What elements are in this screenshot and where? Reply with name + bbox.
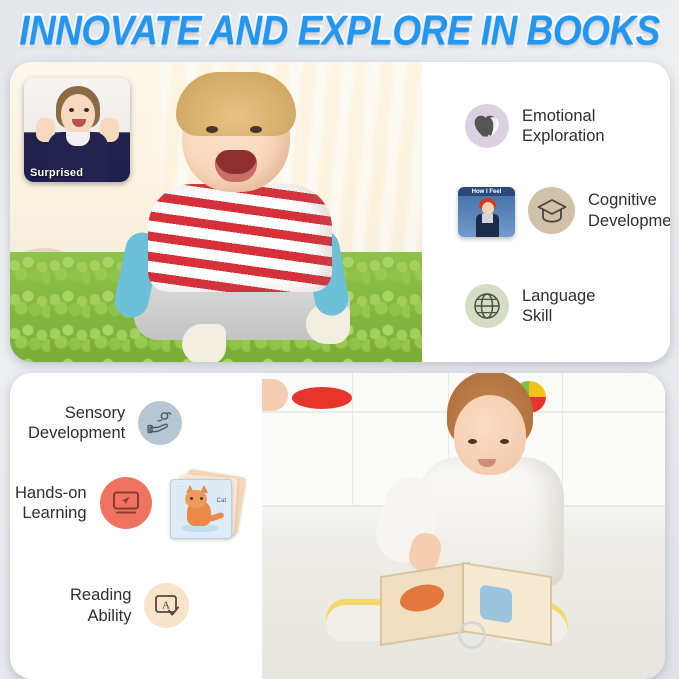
baby-mouth: [215, 150, 257, 182]
shelf-toy-doll: [262, 379, 288, 411]
globe-icon: [465, 284, 509, 328]
graduation-cap-icon: [528, 187, 575, 234]
flashcard-word: Cat: [217, 498, 226, 504]
page-title: INNOVATE AND EXPLORE IN BOOKS: [19, 7, 660, 54]
baby-sock-left: [182, 324, 226, 362]
girl-eye-left: [69, 108, 74, 112]
smiling-baby-on-green-rug-photo: Surprised: [10, 62, 422, 362]
flashcard-front-cat: ···· Cat: [170, 479, 232, 539]
cat-eye-left: [190, 497, 193, 500]
bottom-feature-panel: Sensory Development Hands-on Learning: [10, 373, 665, 679]
inset-caption-label: Surprised: [30, 167, 83, 179]
girl-face: [61, 94, 95, 134]
baby-reading-book-photo: [262, 373, 665, 679]
top-feature-list: Emotional Exploration How I Feel Cogniti…: [430, 62, 670, 362]
shelf-toy-red-disc: [292, 387, 352, 409]
baby-eye-left: [206, 126, 218, 133]
cursor-screen-icon: [100, 477, 152, 529]
feature-label: Sensory Development: [28, 403, 125, 443]
cat-eye-right: [200, 497, 203, 500]
touch-hand-icon: [138, 401, 182, 445]
page-header: INNOVATE AND EXPLORE IN BOOKS: [0, 0, 679, 62]
baby-eye-right: [250, 126, 262, 133]
child-eye-left: [468, 439, 477, 444]
feature-cognitive-development[interactable]: Cognitive Development: [528, 187, 670, 234]
cat-head: [185, 490, 207, 508]
feature-sensory-development[interactable]: Sensory Development: [28, 401, 182, 445]
thumbnail-title: How I Feel: [458, 189, 515, 195]
book-binding-ring: [458, 621, 486, 649]
feature-reading-ability[interactable]: Reading Ability A: [70, 583, 189, 628]
top-feature-panel: Surprised Emotional Exploration How I Fe…: [10, 62, 670, 362]
feature-language-skill[interactable]: Language Skill: [465, 284, 595, 328]
feature-emotional-exploration[interactable]: Emotional Exploration: [465, 104, 605, 148]
surprised-expression-inset-card: Surprised: [24, 78, 130, 182]
bottom-feature-list: Sensory Development Hands-on Learning: [10, 373, 262, 679]
feature-hands-on-learning[interactable]: Hands-on Learning: [15, 477, 152, 529]
feature-label: Cognitive Development: [588, 190, 670, 230]
feature-label: Emotional Exploration: [522, 106, 605, 146]
open-board-book: [380, 569, 548, 639]
girl-eye-right: [84, 108, 89, 112]
feature-label: Reading Ability: [70, 585, 131, 625]
cat-flashcards: ···· Cat: [168, 473, 244, 539]
thumbnail-child-shirt: [482, 214, 493, 223]
letter-a-check-icon: A: [144, 583, 189, 628]
how-i-feel-book-thumbnail: How I Feel: [458, 187, 515, 237]
book-illustration-right: [480, 584, 512, 623]
shelf-cubby-divider: [352, 373, 353, 505]
baby-hair: [176, 72, 296, 136]
child-eye-right: [500, 439, 509, 444]
feature-label: Language Skill: [522, 286, 595, 326]
hearts-icon: [465, 104, 509, 148]
baby-striped-shirt: [148, 184, 332, 292]
feature-label: Hands-on Learning: [15, 483, 87, 523]
